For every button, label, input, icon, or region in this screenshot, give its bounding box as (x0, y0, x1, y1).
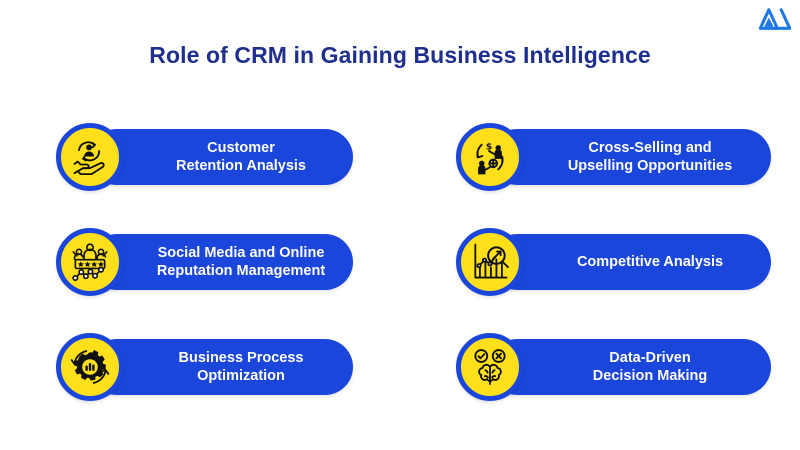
page-title: Role of CRM in Gaining Business Intellig… (0, 42, 800, 69)
benefits-grid: Customer Retention Analysis (0, 118, 800, 428)
icon-badge (456, 333, 524, 401)
list-item-social-media-and-online-reputation-management[interactable]: Social Media and Online Reputation Manag… (56, 223, 353, 301)
grid-cell: Cross-Selling and Upselling Opportunitie… (400, 118, 800, 223)
list-item-customer-retention-analysis[interactable]: Customer Retention Analysis (56, 118, 353, 196)
pill-background[interactable]: Customer Retention Analysis (89, 129, 353, 185)
icon-badge (56, 333, 124, 401)
pill-background[interactable]: Social Media and Online Reputation Manag… (89, 234, 353, 290)
list-item-label: Competitive Analysis (577, 253, 723, 271)
list-item-competitive-analysis[interactable]: Competitive Analysis (456, 223, 771, 301)
pill-background[interactable]: Competitive Analysis (489, 234, 771, 290)
list-item-label: Cross-Selling and Upselling Opportunitie… (568, 139, 732, 175)
list-item-data-driven-decision-making[interactable]: Data-Driven Decision Making (456, 328, 771, 406)
grid-cell: Competitive Analysis (400, 223, 800, 328)
hand-holding-person-retention-icon (68, 135, 112, 179)
list-item-cross-selling-and-upselling-opportunities[interactable]: Cross-Selling and Upselling Opportunitie… (456, 118, 771, 196)
gear-bar-chart-cycle-icon (68, 345, 112, 389)
pill-background[interactable]: Business Process Optimization (89, 339, 353, 395)
mountain-logo-icon (758, 6, 792, 32)
svg-text:$: $ (486, 142, 492, 153)
grid-cell: Social Media and Online Reputation Manag… (0, 223, 400, 328)
icon-badge (456, 228, 524, 296)
bar-chart-magnifier-growth-icon (468, 240, 512, 284)
list-item-business-process-optimization[interactable]: Business Process Optimization (56, 328, 353, 406)
brain-check-cross-icon (468, 345, 512, 389)
people-stars-rating-network-icon (68, 240, 112, 284)
icon-badge: $ (456, 123, 524, 191)
list-item-label: Customer Retention Analysis (176, 139, 306, 175)
list-item-label: Data-Driven Decision Making (593, 349, 707, 385)
list-item-label: Social Media and Online Reputation Manag… (157, 244, 325, 280)
list-item-label: Business Process Optimization (179, 349, 304, 385)
icon-badge (56, 123, 124, 191)
people-money-exchange-icon: $ (468, 135, 512, 179)
grid-cell: Customer Retention Analysis (0, 118, 400, 223)
pill-background[interactable]: Cross-Selling and Upselling Opportunitie… (489, 129, 771, 185)
brand-logo (758, 6, 792, 32)
pill-background[interactable]: Data-Driven Decision Making (489, 339, 771, 395)
grid-cell: Business Process Optimization (0, 328, 400, 433)
grid-cell: Data-Driven Decision Making (400, 328, 800, 433)
icon-badge (56, 228, 124, 296)
